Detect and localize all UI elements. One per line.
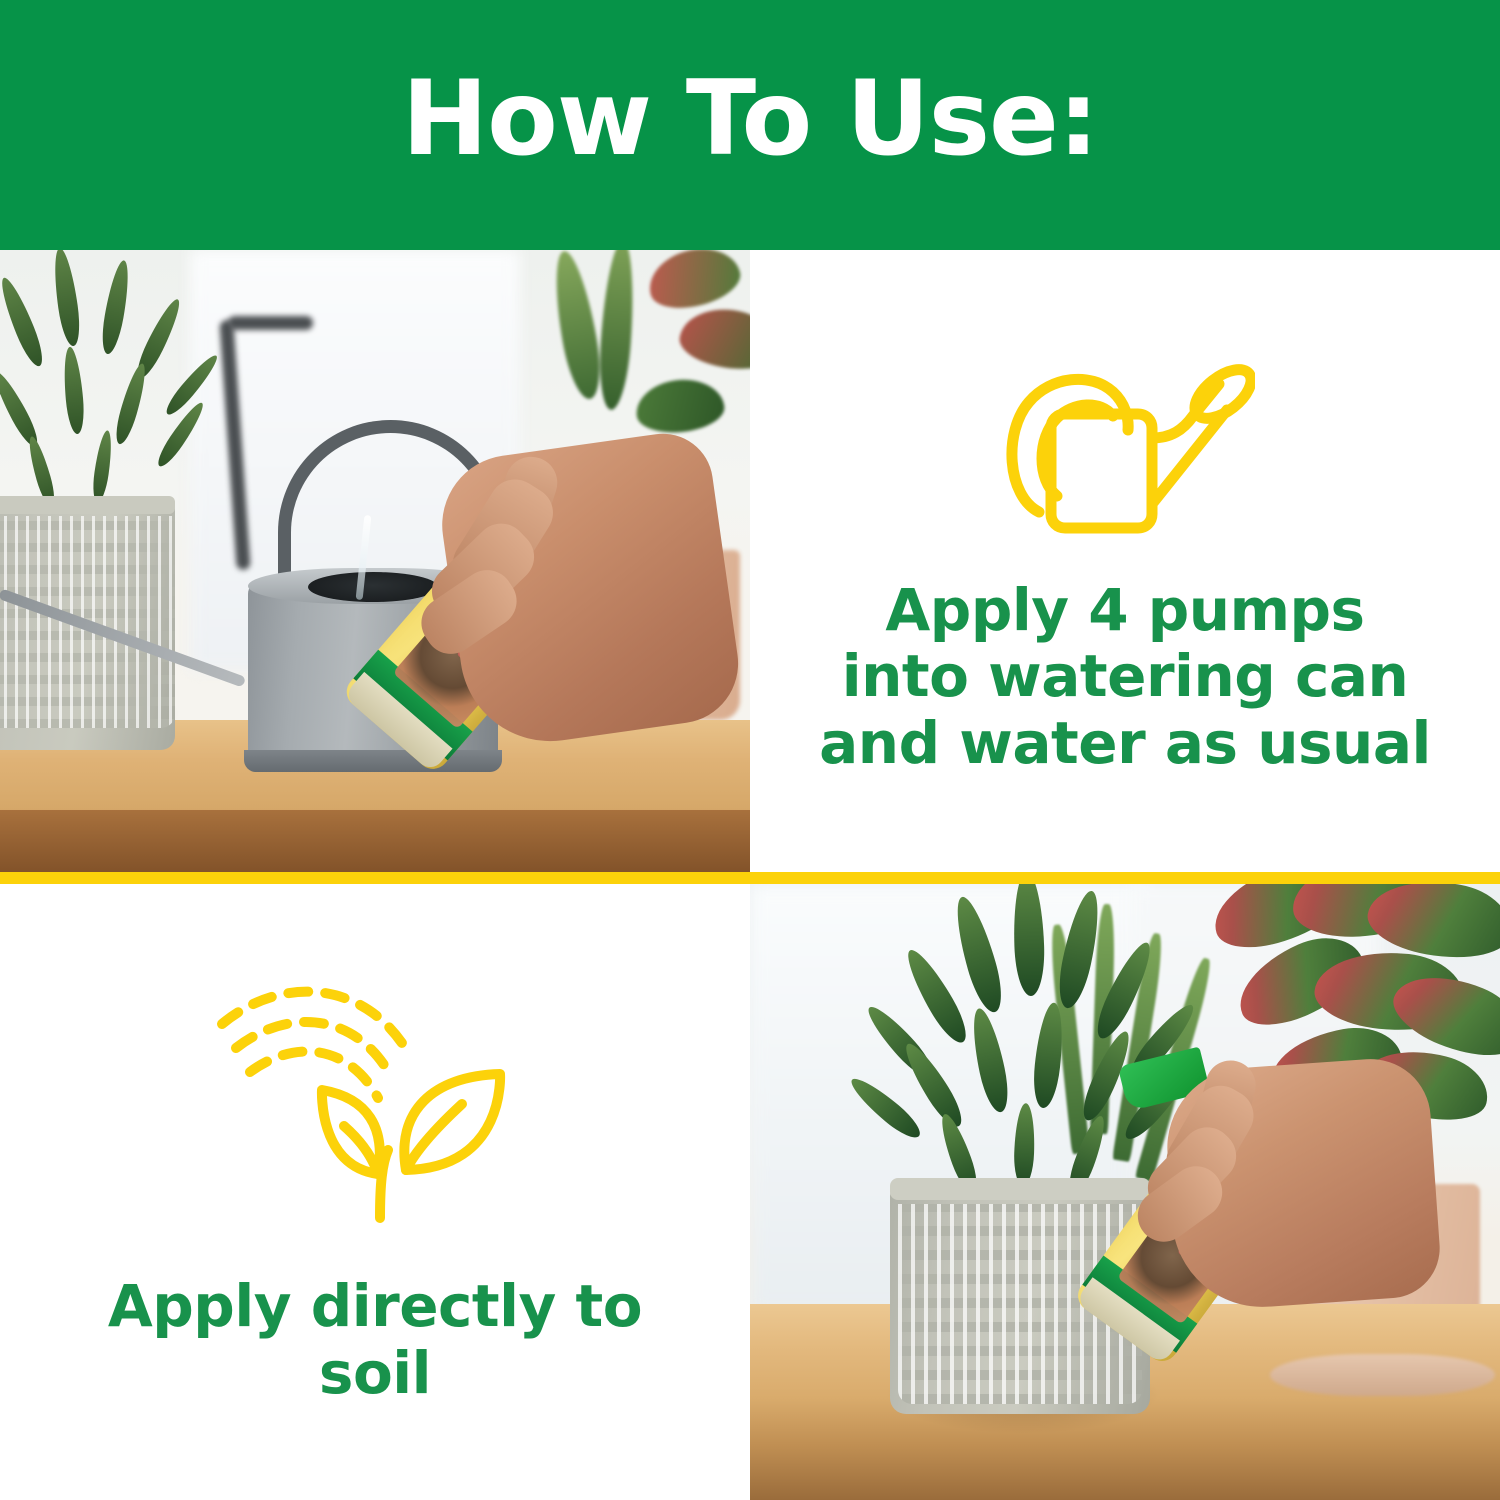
pot-rim [0, 496, 175, 514]
yellow-divider [0, 872, 1500, 884]
photo-scene-spray-soil: Miracle-Gro Indoor Plant Food Nutrition … [750, 884, 1500, 1500]
zz-plant-left [0, 250, 230, 512]
infographic-page: How To Use: [0, 0, 1500, 1500]
step-1-caption: Apply 4 pumps into watering can and wate… [815, 577, 1435, 775]
faucet-arm-blur [228, 316, 313, 330]
wood-table-edge [0, 810, 750, 872]
step-2-panel: Apply directly to soil [0, 884, 750, 1500]
sprout-watering-icon [210, 978, 540, 1233]
watering-can-opening [308, 572, 438, 602]
photo-scene-kitchen-pour: Miracle-Gro Indoor Plant Food Nutrition … [0, 250, 750, 872]
watering-can-base [244, 750, 502, 772]
watering-can-icon [995, 346, 1255, 541]
pot-saucer [1270, 1354, 1495, 1396]
photo-spray-to-soil: Miracle-Gro Indoor Plant Food Nutrition … [750, 884, 1500, 1500]
step-1-panel: Apply 4 pumps into watering can and wate… [750, 250, 1500, 872]
photo-pour-into-watering-can: Miracle-Gro Indoor Plant Food Nutrition … [0, 250, 750, 872]
header-banner: How To Use: [0, 0, 1500, 250]
page-title: How To Use: [402, 68, 1098, 171]
step-1-content: Apply 4 pumps into watering can and wate… [750, 250, 1500, 872]
zz-plant [880, 894, 1180, 1194]
pot-rim [890, 1178, 1150, 1200]
step-2-content: Apply directly to soil [0, 884, 750, 1500]
step-2-caption: Apply directly to soil [95, 1273, 655, 1405]
